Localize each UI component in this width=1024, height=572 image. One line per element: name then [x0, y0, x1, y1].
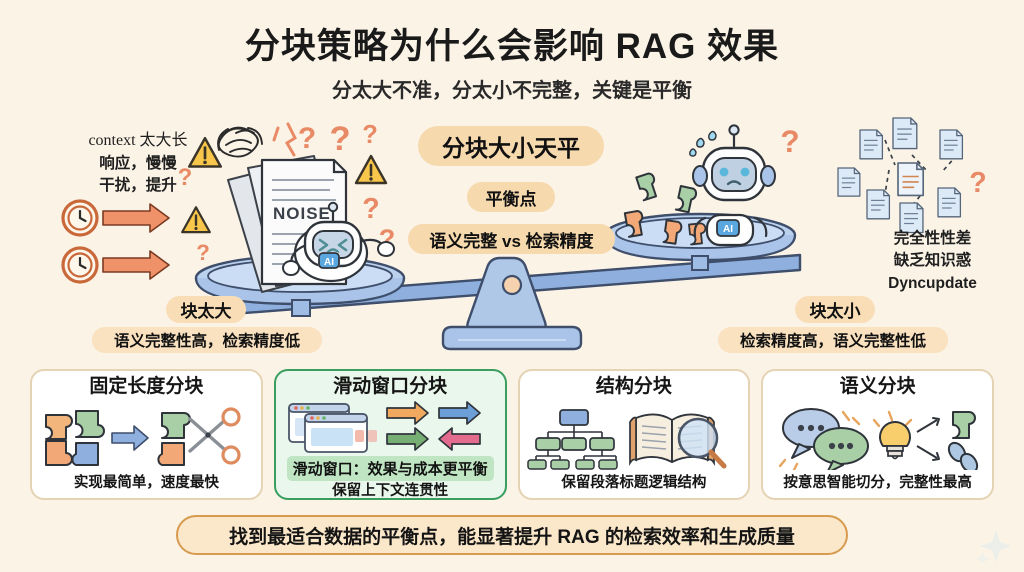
card-title: 语义分块: [840, 377, 916, 398]
right-annotation-line1: 完全性性差: [845, 228, 1020, 250]
question-mark-icon: [969, 167, 986, 199]
puzzle-scissors-icon: [38, 405, 254, 471]
infographic-root: 分块策略为什么会影响 RAG 效果 分太大不准，分太小不完整，关键是平衡 ?: [0, 0, 1024, 572]
caption-chunk-too-big: 语义完整性高，检索精度低: [92, 327, 322, 353]
card-illustration: [276, 400, 505, 456]
left-annotation-line3: 干扰，提升: [48, 175, 228, 197]
left-annotation-line1: context 太大长: [48, 130, 228, 153]
card-title: 滑动窗口分块: [333, 377, 447, 398]
sparkle-icon: [974, 526, 1010, 562]
latency-clock-arrows: [63, 201, 169, 282]
tree-book-magnifier-icon: [526, 406, 742, 470]
card-footer: 按意思智能切分，完整性最高: [783, 475, 972, 498]
card-footer: 保留段落标题逻辑结构: [561, 475, 706, 498]
sliding-windows-arrows-icon: [283, 400, 497, 456]
card-title: 结构分块: [596, 377, 672, 398]
question-mark-icon: [298, 122, 316, 155]
svg-text:NOISE: NOISE: [273, 204, 331, 223]
left-annotation: context 太大长 响应，慢慢 干扰，提升: [48, 130, 228, 197]
card-illustration: [32, 400, 261, 475]
card-fixed-length-chunking[interactable]: 固定长度分块: [30, 369, 263, 500]
question-mark-icon: [329, 120, 350, 158]
card-title: 固定长度分块: [89, 377, 203, 398]
card-highlight: 滑动窗口：效果与成本更平衡: [287, 456, 494, 481]
card-structural-chunking[interactable]: 结构分块: [518, 369, 751, 500]
badge-tradeoff: 语义完整 vs 检索精度: [408, 224, 615, 254]
speech-bulb-puzzle-chain-icon: [771, 406, 985, 470]
right-annotation-line3: Dyncupdate: [845, 273, 1020, 295]
caption-chunk-too-small: 检索精度高，语义完整性低: [718, 327, 948, 353]
left-annotation-line2: 响应，慢慢: [48, 153, 228, 175]
question-mark-icon: [362, 193, 379, 225]
warning-triangle-icon: [182, 207, 210, 232]
question-mark-icon: [362, 121, 378, 149]
svg-text:AI: AI: [324, 257, 334, 268]
question-mark-icon: [196, 240, 210, 265]
card-illustration: [520, 400, 749, 475]
card-footer: 实现最简单，速度最快: [74, 475, 219, 498]
fragmented-documents-cluster: [838, 118, 987, 233]
card-footer: 保留上下文连贯性: [332, 483, 448, 506]
right-pan-group: AI: [605, 123, 800, 270]
conclusion-banner: 找到最适合数据的平衡点，能显著提升 RAG 的检索效率和生成质量: [176, 515, 848, 555]
card-illustration: [763, 400, 992, 475]
card-sliding-window-chunking[interactable]: 滑动窗口分块 滑: [274, 369, 507, 500]
right-annotation-line2: 缺乏知识惑: [845, 250, 1020, 272]
spark-icon: [274, 124, 295, 155]
right-annotation: 完全性性差 缺乏知识惑 Dyncupdate: [845, 228, 1020, 295]
badge-chunk-size-scale: 分块大小天平: [418, 126, 604, 166]
question-mark-icon: [780, 123, 799, 159]
label-chunk-too-small: 块太小: [795, 296, 875, 323]
label-chunk-too-big: 块太大: [166, 296, 246, 323]
warning-triangle-icon: [356, 156, 386, 183]
card-semantic-chunking[interactable]: 语义分块: [761, 369, 994, 500]
badge-balance-point: 平衡点: [467, 182, 555, 212]
strategy-card-row: 固定长度分块: [30, 369, 994, 500]
svg-text:AI: AI: [723, 224, 733, 235]
